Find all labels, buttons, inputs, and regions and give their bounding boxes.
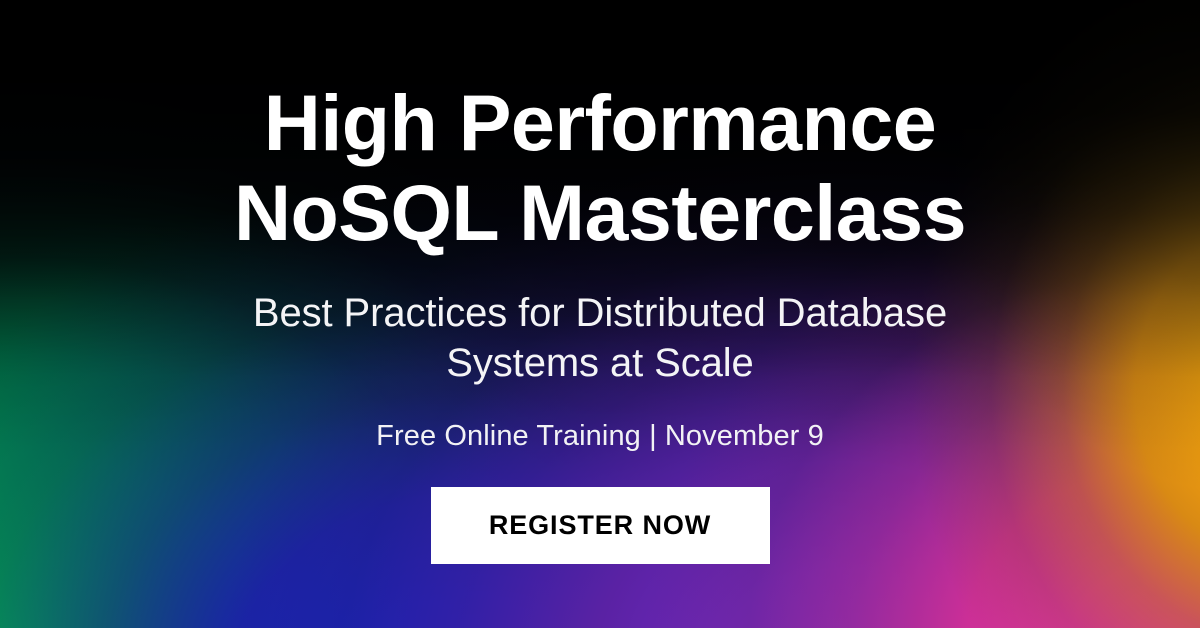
subheadline-line-1: Best Practices for Distributed Database (150, 288, 1050, 338)
register-now-label: REGISTER NOW (489, 512, 711, 539)
cta-container: REGISTER NOW (431, 487, 770, 564)
headline-line-2: NoSQL Masterclass (70, 168, 1130, 258)
headline-line-1: High Performance (70, 78, 1130, 168)
subheadline-line-2: Systems at Scale (150, 338, 1050, 388)
banner-subheadline: Best Practices for Distributed Database … (150, 288, 1050, 388)
banner-content: High Performance NoSQL Masterclass Best … (0, 0, 1200, 628)
event-detail-text: Free Online Training | November 9 (376, 419, 824, 453)
register-now-button[interactable]: REGISTER NOW (431, 487, 770, 564)
promo-banner: High Performance NoSQL Masterclass Best … (0, 0, 1200, 628)
banner-headline: High Performance NoSQL Masterclass (70, 78, 1130, 258)
